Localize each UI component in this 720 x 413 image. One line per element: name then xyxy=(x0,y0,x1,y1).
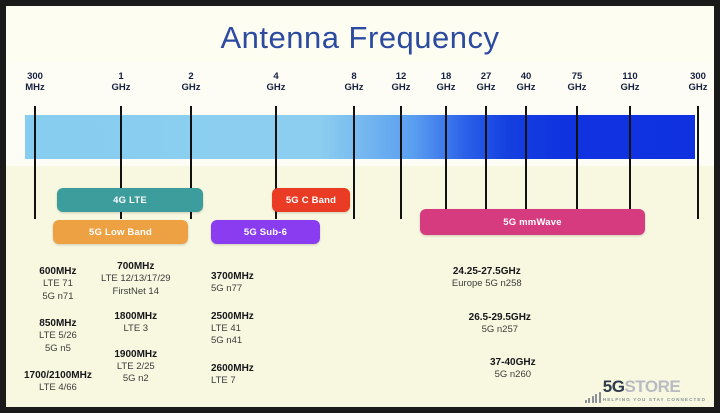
frequency-entry-line: 5G n257 xyxy=(464,324,536,337)
frequency-entry-heading: 2500MHz xyxy=(211,310,254,323)
frequency-entry-heading: 1700/2100MHz xyxy=(24,369,92,382)
frequency-entry: 1700/2100MHzLTE 4/66 xyxy=(24,369,92,395)
frequency-gradient-bar xyxy=(25,115,695,159)
axis-tick-unit: GHz xyxy=(267,82,286,93)
axis-tick-unit: GHz xyxy=(621,82,640,93)
frequency-entry-heading: 1900MHz xyxy=(101,348,171,361)
frequency-entry-heading: 37-40GHz xyxy=(490,356,536,369)
frequency-entry-line: 5G n77 xyxy=(211,283,254,296)
frequency-entry: 850MHzLTE 5/265G n5 xyxy=(24,317,92,355)
axis-tick-mark xyxy=(629,106,631,219)
axis-tick-mark xyxy=(485,106,487,219)
logo-tagline: HELPING YOU STAY CONNECTED xyxy=(603,398,706,403)
axis-tick-value: 300 xyxy=(690,71,706,82)
axis-tick-label: 2GHz xyxy=(182,71,201,93)
frequency-entry: 2500MHzLTE 415G n41 xyxy=(211,310,254,348)
logo-text: 5GSTORE HELPING YOU STAY CONNECTED xyxy=(603,378,706,403)
frequency-entry-line: 5G n71 xyxy=(24,291,92,304)
frequency-entry-line: 5G n5 xyxy=(24,343,92,356)
frequency-entry-heading: 1800MHz xyxy=(101,310,171,323)
axis-tick-unit: MHz xyxy=(25,82,45,93)
axis-tick-value: 18 xyxy=(441,71,452,82)
frequency-entry-line: LTE 41 xyxy=(211,323,254,336)
axis-tick-label: 75GHz xyxy=(568,71,587,93)
frequency-entry: 600MHzLTE 715G n71 xyxy=(24,265,92,303)
frequency-entry-line: LTE 3 xyxy=(101,323,171,336)
frequency-entry-line: LTE 5/26 xyxy=(24,330,92,343)
logo-brand-primary: 5G xyxy=(603,377,625,396)
axis-tick-label: 110GHz xyxy=(621,71,640,93)
frequency-entry: 24.25-27.5GHzEurope 5G n258 xyxy=(438,265,536,291)
axis-tick-value: 27 xyxy=(481,71,492,82)
frequency-entry-line: LTE 12/13/17/29 xyxy=(101,273,171,286)
axis-tick-mark xyxy=(445,106,447,219)
frequency-entry-heading: 850MHz xyxy=(24,317,92,330)
axis-tick-unit: GHz xyxy=(112,82,131,93)
frequency-entry-line: LTE 71 xyxy=(24,278,92,291)
axis-tick-label: 27GHz xyxy=(477,71,496,93)
axis-tick-unit: GHz xyxy=(568,82,587,93)
axis-tick-unit: GHz xyxy=(689,82,708,93)
frequency-entry: 37-40GHz5G n260 xyxy=(490,356,536,382)
frequency-entry: 1900MHzLTE 2/255G n2 xyxy=(101,348,171,386)
frequency-entry-line: LTE 2/25 xyxy=(101,361,171,374)
band-pill-label: 5G Low Band xyxy=(89,227,152,238)
axis-tick-unit: GHz xyxy=(437,82,456,93)
axis-tick-label: 18GHz xyxy=(437,71,456,93)
frequency-entry-line: 5G n260 xyxy=(490,369,536,382)
axis-tick-label: 4GHz xyxy=(267,71,286,93)
axis-tick-unit: GHz xyxy=(517,82,536,93)
axis-tick-unit: GHz xyxy=(392,82,411,93)
band-pill-5g-low-band[interactable]: 5G Low Band xyxy=(53,220,188,244)
frequency-column-1: 600MHzLTE 715G n71850MHzLTE 5/265G n5170… xyxy=(24,265,92,407)
frequency-entry-line: LTE 7 xyxy=(211,375,254,388)
axis-tick-mark xyxy=(34,106,36,219)
frequency-entry-heading: 26.5-29.5GHz xyxy=(464,311,536,324)
band-pill-label: 4G LTE xyxy=(113,195,147,206)
frequency-entry-heading: 600MHz xyxy=(24,265,92,278)
axis-tick-label: 12GHz xyxy=(392,71,411,93)
axis-tick-unit: GHz xyxy=(345,82,364,93)
frequency-entry: 1800MHzLTE 3 xyxy=(101,310,171,336)
axis-tick-unit: GHz xyxy=(182,82,201,93)
brand-logo: 5GSTORE HELPING YOU STAY CONNECTED xyxy=(585,378,706,403)
frequency-entry-line: Europe 5G n258 xyxy=(438,278,536,291)
axis-tick-value: 1 xyxy=(118,71,123,82)
band-pill-5g-mmwave[interactable]: 5G mmWave xyxy=(420,209,645,235)
infographic-card: Antenna Frequency 300MHz1GHz2GHz4GHz8GHz… xyxy=(6,6,714,407)
frequency-entry: 26.5-29.5GHz5G n257 xyxy=(464,311,536,337)
axis-tick-value: 2 xyxy=(188,71,193,82)
frequency-entry-heading: 3700MHz xyxy=(211,270,254,283)
axis-tick-label: 40GHz xyxy=(517,71,536,93)
axis-tick-label: 1GHz xyxy=(112,71,131,93)
axis-tick-value: 8 xyxy=(351,71,356,82)
frequency-scale-panel: 300MHz1GHz2GHz4GHz8GHz12GHz18GHz27GHz40G… xyxy=(6,62,714,407)
frequency-column-2: 700MHzLTE 12/13/17/29FirstNet 141800MHzL… xyxy=(101,260,171,398)
band-pill-5g-c-band[interactable]: 5G C Band xyxy=(272,188,350,212)
axis-tick-mark xyxy=(697,106,699,219)
axis-tick-label: 8GHz xyxy=(345,71,364,93)
axis-tick-label: 300GHz xyxy=(689,71,708,93)
frequency-entry-line: 5G n41 xyxy=(211,335,254,348)
signal-bars-icon xyxy=(585,391,601,403)
axis-tick-unit: GHz xyxy=(477,82,496,93)
band-pill-label: 5G Sub-6 xyxy=(244,227,287,238)
frequency-entry: 3700MHz5G n77 xyxy=(211,270,254,296)
page-title: Antenna Frequency xyxy=(6,20,714,56)
frequency-column-3: 3700MHz5G n772500MHzLTE 415G n412600MHzL… xyxy=(211,270,254,401)
frequency-entry: 700MHzLTE 12/13/17/29FirstNet 14 xyxy=(101,260,171,298)
frequency-entry-heading: 24.25-27.5GHz xyxy=(438,265,536,278)
band-pill-5g-sub-6[interactable]: 5G Sub-6 xyxy=(211,220,320,244)
axis-tick-mark xyxy=(353,106,355,219)
axis-tick-mark xyxy=(400,106,402,219)
frequency-entry-line: LTE 4/66 xyxy=(24,382,92,395)
frequency-entry-heading: 2600MHz xyxy=(211,362,254,375)
axis-tick-value: 110 xyxy=(622,71,637,82)
band-pill-label: 5G mmWave xyxy=(503,217,561,228)
axis-tick-value: 300 xyxy=(27,71,43,82)
logo-brand-secondary: STORE xyxy=(624,377,680,396)
axis-tick-value: 40 xyxy=(521,71,532,82)
frequency-entry-heading: 700MHz xyxy=(101,260,171,273)
axis-tick-value: 75 xyxy=(572,71,583,82)
frequency-entry: 2600MHzLTE 7 xyxy=(211,362,254,388)
frequency-entry-line: FirstNet 14 xyxy=(101,286,171,299)
axis-tick-value: 4 xyxy=(273,71,278,82)
band-pill-label: 5G C Band xyxy=(286,195,336,206)
axis-tick-label: 300MHz xyxy=(25,71,45,93)
axis-tick-mark xyxy=(576,106,578,219)
frequency-column-4: 24.25-27.5GHzEurope 5G n25826.5-29.5GHz5… xyxy=(438,265,536,402)
axis-tick-value: 12 xyxy=(396,71,407,82)
frequency-entry-line: 5G n2 xyxy=(101,373,171,386)
band-pill-4g-lte[interactable]: 4G LTE xyxy=(57,188,203,212)
axis-tick-mark xyxy=(525,106,527,219)
